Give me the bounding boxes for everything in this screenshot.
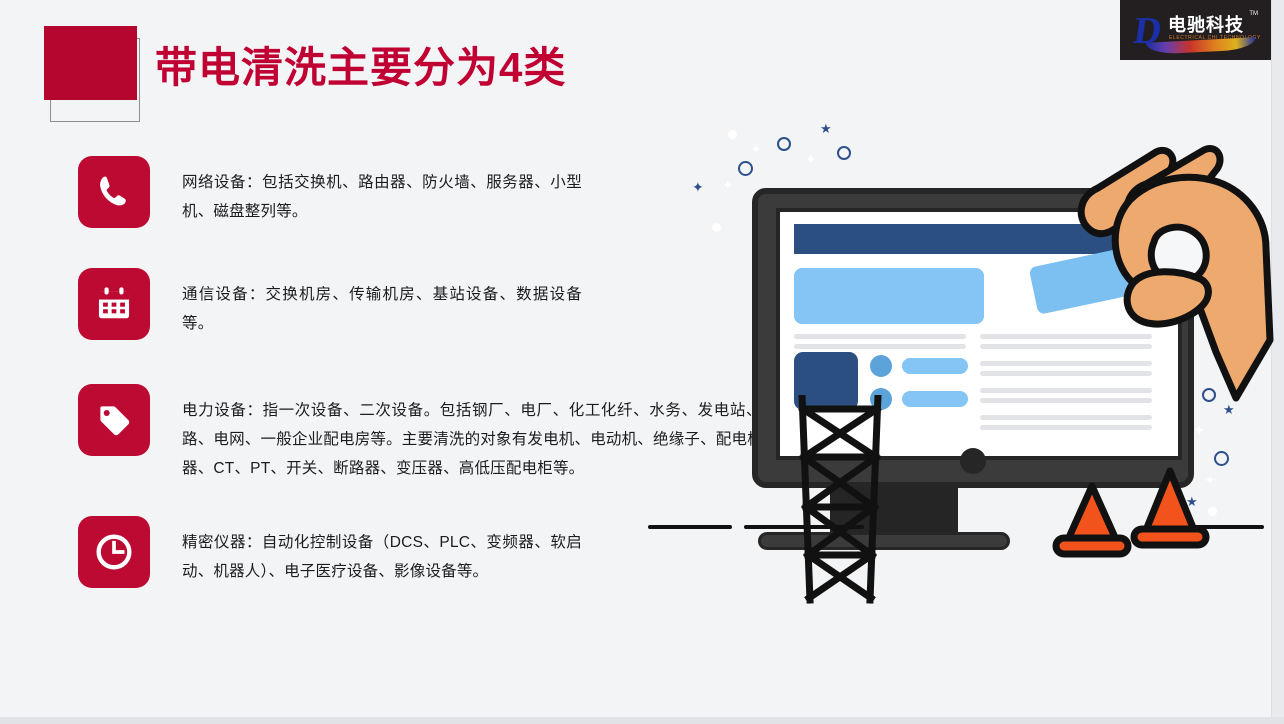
clock-glyph [94, 532, 134, 572]
decoration-sparkle: ✦ [722, 178, 734, 192]
clock-icon [78, 516, 150, 588]
list-item-label: 通信设备：交换机房、传输机房、基站设备、数据设备等。 [182, 280, 582, 338]
decoration-ring [837, 146, 851, 160]
decoration-sparkle: ✦ [805, 152, 817, 166]
decoration-ring [777, 137, 791, 151]
calendar-icon [78, 268, 150, 340]
company-logo: D 电驰科技 ELECTRICAL CHI TECHNOLOGY TM [1120, 0, 1272, 60]
screen-text-block [794, 334, 966, 354]
logo-trademark: TM [1249, 11, 1258, 17]
screen-hero-card [794, 268, 984, 324]
monitor-power-button[interactable] [960, 448, 986, 474]
screen-avatar-dot [870, 355, 892, 377]
decoration-dot [712, 223, 721, 232]
logo-swoosh [1146, 37, 1256, 55]
slide-title-row: 带电清洗主要分为4类 [44, 26, 744, 118]
list-item-label: 网络设备：包括交换机、路由器、防火墙、服务器、小型机、磁盘整列等。 [182, 168, 582, 226]
decoration-sparkle: ✦ [692, 180, 704, 194]
decoration-dot [728, 130, 737, 139]
screen-list-pill [902, 358, 968, 374]
page-title: 带电清洗主要分为4类 [155, 42, 566, 94]
decoration-ring [738, 161, 753, 176]
transmission-tower-icon [780, 395, 900, 605]
title-marker-block [44, 26, 137, 100]
hand-icon [1070, 130, 1284, 530]
ground-line [648, 525, 732, 529]
slide-canvas: D 电驰科技 ELECTRICAL CHI TECHNOLOGY TM 带电清洗… [0, 0, 1284, 724]
tag-icon [78, 384, 150, 456]
screen-text-line [794, 344, 966, 349]
screen-list-pill [902, 391, 968, 407]
decoration-sparkle: ✦ [750, 142, 762, 156]
monitor-hand-illustration: ★ ✦ ✦ ✦ ✦ ★ ✦ ✦ ★ [640, 110, 1280, 590]
tag-glyph [95, 401, 133, 439]
screen-text-line [794, 334, 966, 339]
page-bottom-edge [0, 717, 1284, 724]
decoration-star: ★ [820, 122, 832, 135]
logo-company-name: 电驰科技 [1168, 16, 1244, 34]
phone-glyph [95, 173, 133, 211]
phone-icon [78, 156, 150, 228]
logo-inner: D 电驰科技 ELECTRICAL CHI TECHNOLOGY TM [1128, 4, 1264, 56]
calendar-glyph [95, 285, 133, 323]
list-item-label: 精密仪器：自动化控制设备（DCS、PLC、变频器、软启动、机器人）、电子医疗设备… [182, 528, 582, 586]
